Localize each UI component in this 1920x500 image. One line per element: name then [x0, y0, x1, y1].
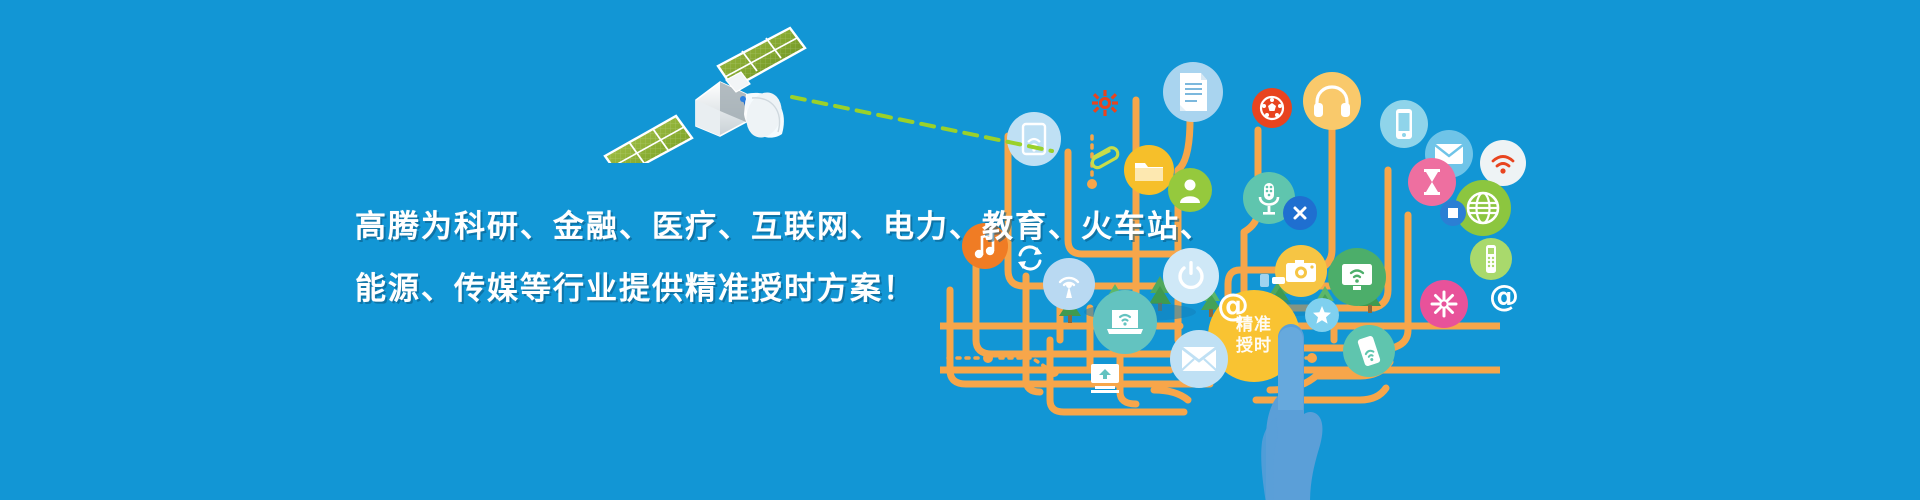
- small-device-icon: [1440, 200, 1466, 226]
- remote-control-icon: [1470, 238, 1512, 280]
- paperclip-icon: [1088, 140, 1122, 174]
- mail-envelope-icon: [1170, 330, 1228, 388]
- headphones-icon: [1303, 72, 1361, 130]
- desktop-screen-icon: [1085, 362, 1125, 396]
- power-button-icon: [1163, 248, 1219, 304]
- folder-icon: [1124, 145, 1174, 195]
- tablet-signal-icon: [1343, 325, 1395, 377]
- gear-icon: [1092, 90, 1118, 116]
- satellite-graphic: [600, 18, 810, 163]
- toggle-switch-icon: [1258, 270, 1288, 292]
- document-icon: [1163, 62, 1223, 122]
- broadcast-tower-icon: [1043, 258, 1095, 310]
- laptop-wifi-icon: [1093, 290, 1157, 354]
- close-x-icon: [1283, 196, 1317, 230]
- at-sign-icon: @: [1216, 288, 1250, 322]
- soccer-ball-icon: [1252, 88, 1292, 128]
- pointing-hand-icon: [1232, 318, 1327, 500]
- at-symbol-glyph: @: [1489, 282, 1519, 312]
- wifi-signal-icon: [1480, 140, 1526, 186]
- smartphone-icon: [1380, 100, 1428, 148]
- monitor-wifi-icon: [1328, 248, 1386, 306]
- flower-burst-icon: [1420, 280, 1468, 328]
- banner-stage: @ @ 精准 授时: [0, 0, 1920, 500]
- at-symbol-icon: @: [1487, 280, 1521, 314]
- dashed-signal-beam-icon: [790, 95, 1060, 155]
- hourglass-icon: [1408, 158, 1456, 206]
- user-avatar-icon: [1168, 168, 1212, 212]
- music-note-icon: [962, 223, 1008, 269]
- at-sign-glyph: @: [1217, 289, 1249, 321]
- refresh-sync-icon: [1012, 240, 1048, 276]
